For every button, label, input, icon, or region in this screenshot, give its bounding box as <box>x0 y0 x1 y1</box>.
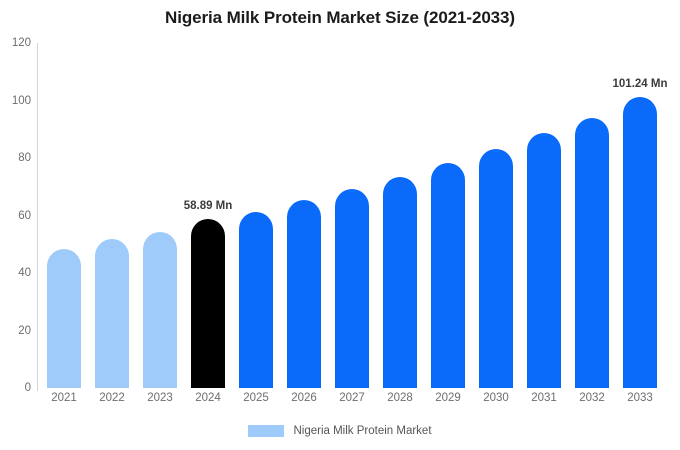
bar-slot <box>95 43 129 388</box>
bar-slot <box>479 43 513 388</box>
x-axis-tick-label: 2021 <box>47 392 81 404</box>
y-axis-tick-label: 120 <box>5 37 31 49</box>
bar-value-label-2024: 58.89 Mn <box>184 200 233 212</box>
x-axis-tick-label: 2022 <box>95 392 129 404</box>
x-axis-tick-label: 2028 <box>383 392 417 404</box>
x-axis-tick-label: 2026 <box>287 392 321 404</box>
y-axis: 020406080100120 <box>0 43 31 388</box>
y-axis-tick-label: 0 <box>5 382 31 394</box>
bar-2031[interactable] <box>527 133 561 388</box>
bar-slot <box>431 43 465 388</box>
bar-slot: 58.89 Mn <box>191 43 225 388</box>
x-axis: 2021202220232024202520262027202820292030… <box>37 392 680 412</box>
legend-item[interactable]: Nigeria Milk Protein Market <box>248 425 431 437</box>
bar-2021[interactable] <box>47 249 81 388</box>
bar-chart: Nigeria Milk Protein Market Size (2021-2… <box>0 0 680 450</box>
bar-2025[interactable] <box>239 212 273 388</box>
bar-2024[interactable]: 58.89 Mn <box>191 219 225 388</box>
bar-2023[interactable] <box>143 232 177 388</box>
x-axis-tick-label: 2030 <box>479 392 513 404</box>
x-axis-tick-label: 2025 <box>239 392 273 404</box>
bar-2032[interactable] <box>575 118 609 388</box>
bar-slot <box>239 43 273 388</box>
bar-slot <box>383 43 417 388</box>
chart-legend: Nigeria Milk Protein Market <box>0 425 680 437</box>
bar-slot: 101.24 Mn <box>623 43 657 388</box>
bar-slot <box>575 43 609 388</box>
bar-value-label-2033: 101.24 Mn <box>613 78 668 90</box>
legend-swatch-icon <box>248 425 284 437</box>
x-axis-tick-label: 2033 <box>623 392 657 404</box>
bar-2030[interactable] <box>479 149 513 388</box>
bar-slot <box>527 43 561 388</box>
bar-slot <box>287 43 321 388</box>
x-axis-tick-label: 2029 <box>431 392 465 404</box>
bar-2028[interactable] <box>383 177 417 388</box>
bar-2026[interactable] <box>287 200 321 388</box>
x-axis-tick-label: 2023 <box>143 392 177 404</box>
bar-slot <box>335 43 369 388</box>
x-axis-tick-label: 2032 <box>575 392 609 404</box>
bar-2033[interactable]: 101.24 Mn <box>623 97 657 388</box>
y-axis-tick-label: 20 <box>5 325 31 337</box>
x-axis-tick-label: 2024 <box>191 392 225 404</box>
legend-label: Nigeria Milk Protein Market <box>293 425 431 437</box>
chart-title: Nigeria Milk Protein Market Size (2021-2… <box>0 8 680 28</box>
bar-slot <box>47 43 81 388</box>
y-axis-tick-label: 60 <box>5 210 31 222</box>
y-axis-tick-label: 100 <box>5 95 31 107</box>
y-axis-tick-label: 80 <box>5 152 31 164</box>
x-axis-tick-label: 2027 <box>335 392 369 404</box>
bar-slot <box>143 43 177 388</box>
bar-2029[interactable] <box>431 163 465 388</box>
x-axis-tick-label: 2031 <box>527 392 561 404</box>
bar-2022[interactable] <box>95 239 129 388</box>
bar-2027[interactable] <box>335 189 369 388</box>
y-axis-tick-label: 40 <box>5 267 31 279</box>
plot-area: 58.89 Mn101.24 Mn <box>37 43 680 388</box>
